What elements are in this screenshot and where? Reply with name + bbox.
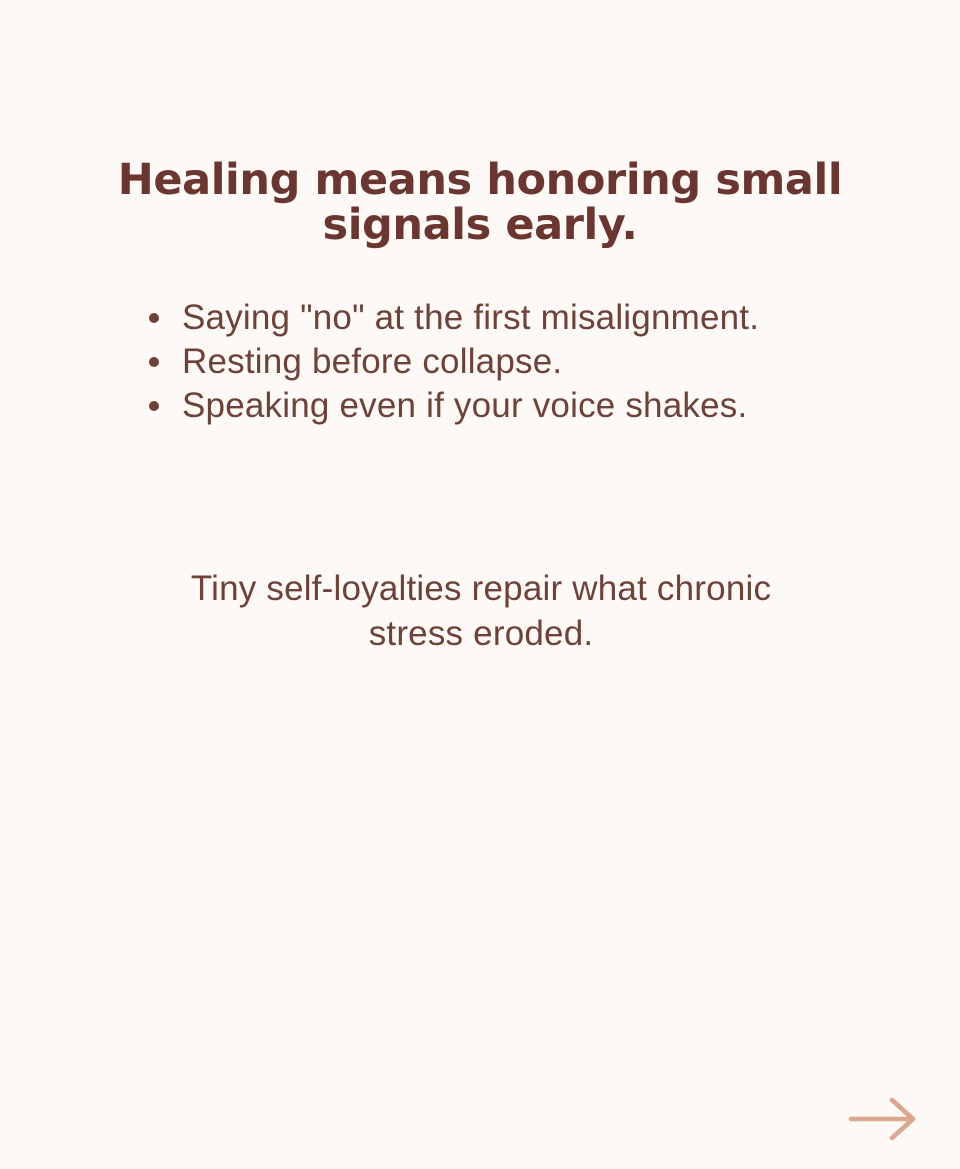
bullet-dot-icon [149, 401, 159, 411]
arrow-right-icon [845, 1092, 921, 1146]
bullet-dot-icon [149, 357, 159, 367]
list-item: Speaking even if your voice shakes. [146, 384, 786, 428]
list-item: Resting before collapse. [146, 340, 786, 384]
list-item: Saying "no" at the first misalignment. [146, 296, 786, 340]
title-line-2: signals early. [110, 203, 850, 248]
list-item-label: Saying "no" at the first misalignment. [182, 298, 759, 337]
page-title: Healing means honoring small signals ear… [110, 158, 850, 248]
signals-bullet-list: Saying "no" at the first misalignment. R… [146, 296, 786, 428]
list-item-label: Speaking even if your voice shakes. [182, 386, 747, 425]
title-line-1: Healing means honoring small [110, 158, 850, 203]
quote-card-slide: Healing means honoring small signals ear… [0, 0, 960, 1169]
list-item-label: Resting before collapse. [182, 342, 562, 381]
bullet-dot-icon [149, 313, 159, 323]
next-slide-button[interactable] [845, 1092, 921, 1146]
closing-paragraph: Tiny self-loyalties repair what chronic … [150, 566, 812, 656]
